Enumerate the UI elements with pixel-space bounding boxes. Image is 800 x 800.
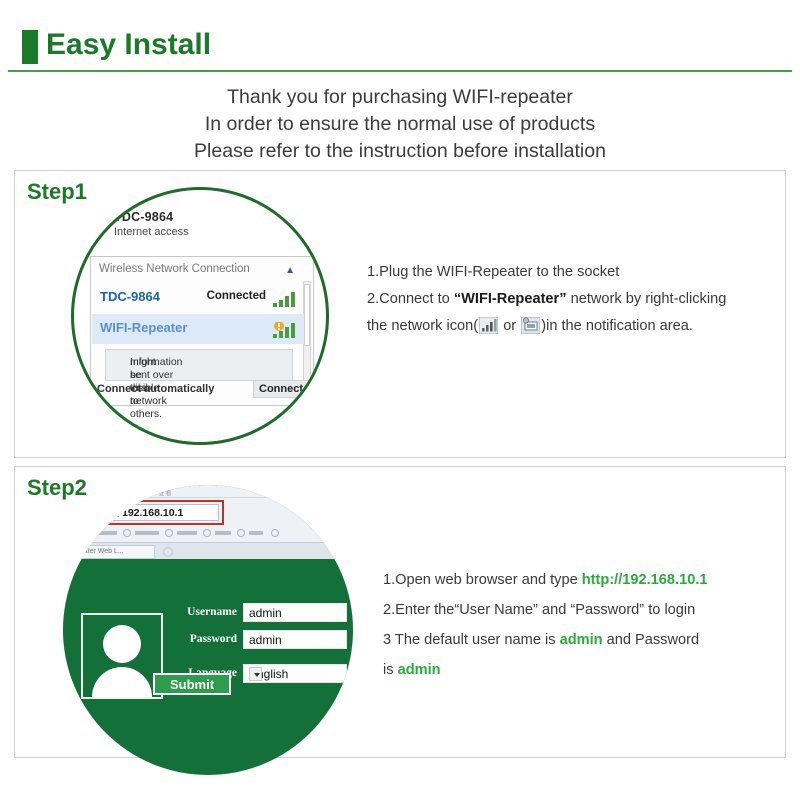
connect-automatically-checkbox[interactable] (83, 384, 92, 393)
browser-tab-bar: ...eater Web L... (63, 542, 353, 559)
s2-l1-url: http://192.168.10.1 (582, 572, 708, 588)
network-ssid: WIFI-Repeater (100, 320, 187, 335)
s1-l2-ssid: “WIFI-Repeater” (454, 291, 567, 307)
s1-l3-c: )in the notification area. (541, 318, 693, 334)
s2-l4-admin: admin (398, 662, 441, 678)
password-field[interactable]: admin (243, 630, 347, 649)
signal-bars-icon (479, 317, 498, 334)
s2-l3-admin: admin (560, 632, 603, 648)
browser-chrome: 文件 编辑 查看 192.168.10.1 (63, 485, 353, 559)
browser-toolbar (83, 528, 313, 538)
easy-install-page: Easy Install Thank you for purchasing WI… (0, 0, 800, 800)
step1-instructions: 1.Plug the WIFI-Repeater to the socket 2… (367, 259, 777, 340)
address-bar-highlight (102, 500, 224, 525)
intro-text-block: Thank you for purchasing WIFI-repeater I… (0, 84, 800, 165)
network-ssid: TDC-9864 (100, 289, 160, 304)
network-monitor-icon (521, 317, 540, 334)
browser-tab-label: ...eater Web L... (74, 548, 124, 555)
network-list-item[interactable]: WIFI-Repeater (92, 314, 304, 344)
step1-panel: Step1 TDC-9864 Internet access Wireless … (14, 170, 786, 458)
s2-l3-a: 3 The default user name is (383, 632, 560, 648)
password-value: admin (249, 633, 282, 647)
step2-instruction-line-1: 1.Open web browser and type http://192.1… (383, 565, 783, 595)
username-label: Username (175, 606, 237, 618)
wireless-popup-title: Wireless Network Connection (99, 263, 250, 275)
browser-title-divider (123, 497, 313, 498)
browser-menu-bar: 文件 编辑 查看 (125, 488, 172, 497)
step1-instruction-line-1: 1.Plug the WIFI-Repeater to the socket (367, 259, 777, 286)
step2-instruction-line-3: 3 The default user name is admin and Pas… (383, 625, 783, 655)
s1-l3-a: the network icon( (367, 318, 478, 334)
username-field[interactable]: admin (243, 603, 347, 622)
s1-l2-c: network by right-clicking (567, 291, 727, 307)
browser-favicon-icon (89, 507, 100, 518)
step1-instruction-line-2: 2.Connect to “WIFI-Repeater” network by … (367, 286, 777, 313)
step2-instruction-line-4: is admin (383, 655, 783, 685)
step1-instruction-line-3: the network icon( or )in the notificatio… (367, 313, 777, 340)
submit-button-label: Submit (155, 677, 229, 692)
header-divider (8, 70, 792, 72)
header-accent-bar (22, 30, 38, 64)
wireless-network-popup: Wireless Network Connection ▲ TDC-9864 C… (90, 256, 314, 406)
connect-button[interactable]: Connect (253, 380, 309, 398)
step2-screenshot-circle: 文件 编辑 查看 192.168.10.1 (63, 485, 353, 775)
s1-l3-b: or (499, 318, 520, 334)
step1-screenshot-circle: TDC-9864 Internet access Wireless Networ… (71, 187, 329, 445)
s2-l1-a: 1.Open web browser and type (383, 572, 582, 588)
wireless-tray-icon (94, 208, 112, 224)
network-state: Connected (207, 290, 266, 302)
step2-instruction-line-2: 2.Enter the“User Name” and “Password” to… (383, 595, 783, 625)
new-tab-icon[interactable] (163, 547, 173, 557)
tray-status: Internet access (114, 226, 304, 238)
submit-button[interactable]: Submit (153, 673, 231, 695)
s1-l2-a: 2.Connect to (367, 291, 454, 307)
page-title: Easy Install (46, 26, 211, 64)
intro-line-2: In order to ensure the normal use of pro… (0, 111, 800, 138)
signal-bars-icon (272, 291, 298, 307)
language-select[interactable]: English (243, 664, 347, 683)
connect-automatically-label: Connect automatically (97, 383, 214, 395)
password-label: Password (175, 633, 237, 645)
username-value: admin (249, 606, 282, 620)
step2-instructions: 1.Open web browser and type http://192.1… (383, 565, 783, 685)
s2-l4-a: is (383, 662, 398, 678)
signal-bars-warning-icon (272, 322, 298, 338)
chevron-down-icon[interactable] (249, 667, 262, 681)
tray-network-header: TDC-9864 Internet access (114, 210, 304, 238)
step2-panel: Step2 文件 编辑 查看 192.168.10.1 (14, 466, 786, 758)
page-header: Easy Install (0, 26, 800, 72)
intro-line-1: Thank you for purchasing WIFI-repeater (0, 84, 800, 111)
network-info-tooltip: Information sent over this network might… (105, 349, 293, 381)
avatar (81, 613, 163, 699)
intro-line-3: Please refer to the instruction before i… (0, 138, 800, 165)
browser-tab[interactable]: ...eater Web L... (69, 545, 155, 559)
network-list-item[interactable]: TDC-9864 Connected (92, 283, 304, 313)
tray-ssid: TDC-9864 (114, 210, 304, 224)
chevron-up-icon[interactable]: ▲ (285, 265, 295, 276)
s2-l3-b: and Password (603, 632, 700, 648)
popup-scrollbar[interactable] (303, 281, 311, 381)
